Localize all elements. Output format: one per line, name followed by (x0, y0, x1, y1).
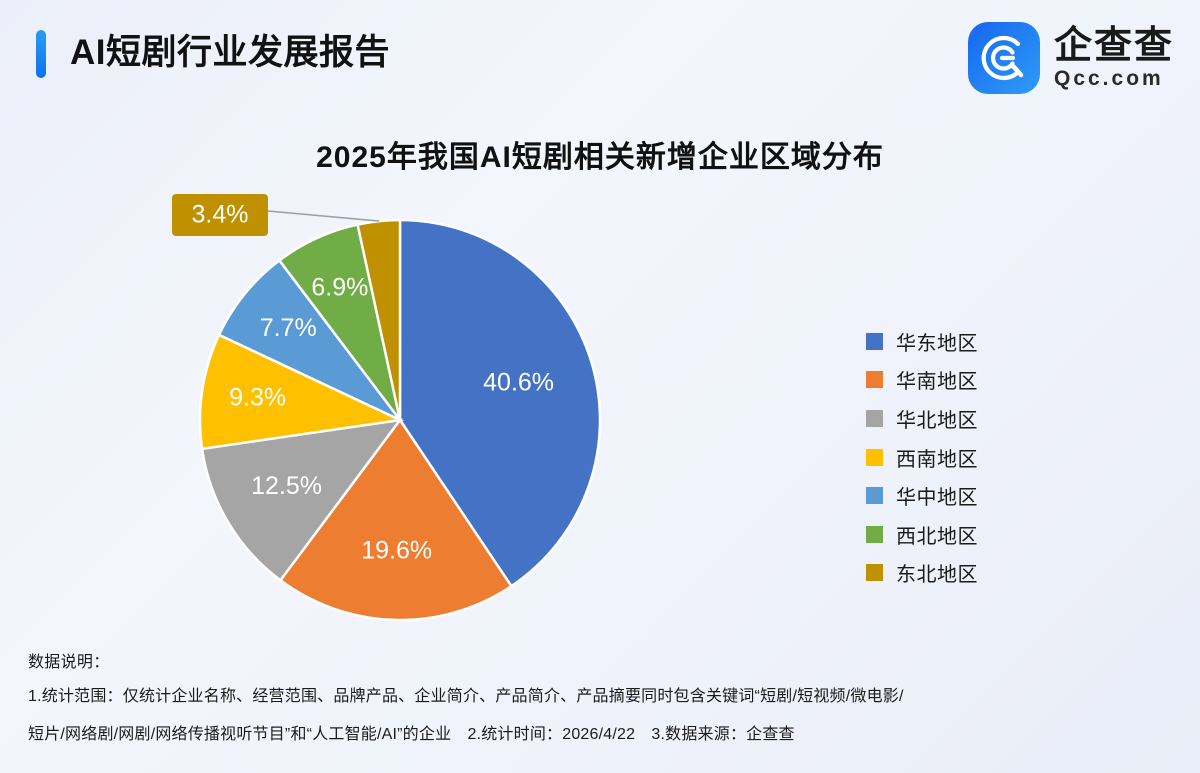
brand-name-en: Qcc.com (1054, 67, 1174, 91)
footer-notes: 数据说明： 1.统计范围：仅统计企业名称、经营范围、品牌产品、企业简介、产品简介… (28, 648, 1178, 754)
brand-name-cn: 企查查 (1054, 25, 1174, 67)
legend-label: 华南地区 (896, 365, 978, 394)
legend-swatch (866, 449, 883, 466)
legend-swatch (866, 371, 883, 388)
page-title: AI短剧行业发展报告 (70, 28, 390, 78)
brand-logo: 企查查 Qcc.com (968, 22, 1174, 94)
footer-line-2: 短片/网络剧/网剧/网络传播视听节目”和“人工智能/AI”的企业 2.统计时间：… (28, 716, 1178, 754)
legend-item[interactable]: 华南地区 (866, 361, 978, 400)
legend-label: 华东地区 (896, 327, 978, 356)
legend-item[interactable]: 西北地区 (866, 515, 978, 554)
footer-heading: 数据说明： (28, 648, 1178, 678)
legend-swatch (866, 410, 883, 427)
pie-slice-label: 6.9% (311, 274, 368, 302)
legend-label: 华北地区 (896, 404, 978, 433)
legend-label: 西北地区 (896, 520, 978, 549)
pie-slice-label: 40.6% (483, 369, 554, 397)
footer-line-1: 1.统计范围：仅统计企业名称、经营范围、品牌产品、企业简介、产品简介、产品摘要同… (28, 678, 1178, 716)
chart-title: 2025年我国AI短剧相关新增企业区域分布 (0, 132, 1200, 176)
chart-legend: 华东地区华南地区华北地区西南地区华中地区西北地区东北地区 (866, 322, 978, 592)
legend-item[interactable]: 华中地区 (866, 476, 978, 515)
pie-slice-label: 9.3% (229, 383, 286, 411)
legend-item[interactable]: 华北地区 (866, 399, 978, 438)
legend-label: 华中地区 (896, 481, 978, 510)
legend-label: 东北地区 (896, 558, 978, 587)
legend-swatch (866, 333, 883, 350)
legend-swatch (866, 564, 883, 581)
pie-slice-label: 19.6% (361, 537, 432, 565)
legend-swatch (866, 526, 883, 543)
chart-area: 40.6%19.6%12.5%9.3%7.7%6.9% 3.4% (0, 180, 1200, 640)
pie-chart: 40.6%19.6%12.5%9.3%7.7%6.9% 3.4% (150, 180, 870, 640)
pie-slice-label: 12.5% (251, 472, 322, 500)
callout-label: 3.4% (192, 201, 249, 229)
page-header: AI短剧行业发展报告 企查查 Qcc.com (0, 0, 1200, 112)
qcc-logo-icon (968, 22, 1040, 94)
brand-text: 企查查 Qcc.com (1054, 25, 1174, 91)
legend-item[interactable]: 西南地区 (866, 438, 978, 477)
legend-label: 西南地区 (896, 443, 978, 472)
legend-item[interactable]: 华东地区 (866, 322, 978, 361)
callout-leader-line (268, 211, 379, 221)
title-accent-bar (36, 30, 46, 78)
legend-swatch (866, 487, 883, 504)
pie-slice-label: 7.7% (260, 314, 317, 342)
magnifier-q-icon (968, 22, 1040, 94)
report-page: AI短剧行业发展报告 企查查 Qcc.com 2025年我国AI短剧相关新增企业… (0, 0, 1200, 773)
legend-item[interactable]: 东北地区 (866, 554, 978, 593)
